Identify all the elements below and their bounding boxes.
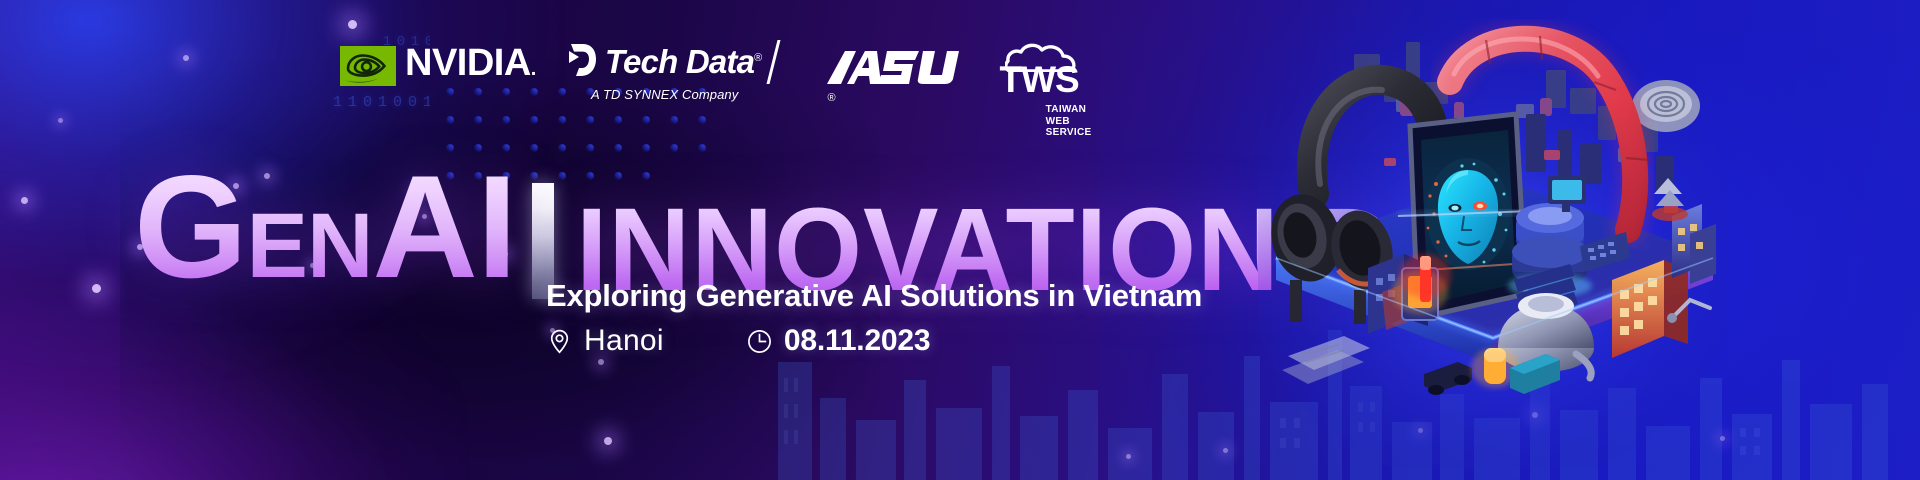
event-date-label: 08.11.2023 bbox=[784, 325, 931, 357]
subtitle: Exploring Generative AI Solutions in Vie… bbox=[546, 278, 1202, 314]
asus-logotype-icon bbox=[825, 48, 963, 90]
location-pin-icon bbox=[546, 328, 573, 355]
glow-particle-11 bbox=[604, 437, 612, 445]
techdata-d-icon bbox=[568, 42, 598, 78]
techdata-logo: Tech Data® A TD SYNNEX Company bbox=[568, 42, 762, 102]
nvidia-eye-icon bbox=[340, 46, 396, 86]
techdata-slash-accent bbox=[767, 40, 781, 84]
glow-particle-14 bbox=[1223, 448, 1228, 453]
asus-registered-mark: ® bbox=[827, 92, 835, 104]
tws-tagline-line1: TAIWAN bbox=[1046, 104, 1092, 116]
techdata-tagline: A TD SYNNEX Company bbox=[591, 87, 738, 102]
nvidia-logo: NVIDIA. bbox=[340, 38, 536, 88]
glow-particle-19 bbox=[58, 118, 63, 123]
techdata-wordmark: Tech Data® bbox=[605, 42, 762, 78]
glow-particle-13 bbox=[1126, 454, 1131, 459]
tws-tagline: TAIWAN WEB SERVICE bbox=[1046, 104, 1092, 142]
glow-particle-4 bbox=[348, 20, 357, 29]
ai-isometric-illustration bbox=[1258, 18, 1728, 468]
glow-particle-2 bbox=[92, 284, 101, 293]
asus-logo: ® bbox=[825, 48, 963, 104]
glow-particle-12 bbox=[598, 359, 604, 365]
glow-particle-0 bbox=[21, 197, 28, 204]
sponsor-logo-strip: NVIDIA. Tech Data® A TD SYNNEX Company bbox=[0, 38, 1160, 110]
nvidia-wordmark: NVIDIA. bbox=[405, 44, 536, 88]
event-location-label: Hanoi bbox=[584, 325, 664, 357]
event-date: 08.11.2023 bbox=[746, 325, 931, 357]
clock-icon bbox=[746, 328, 773, 355]
tws-tagline-line3: SERVICE bbox=[1046, 127, 1092, 139]
tws-tagline-line2: WEB bbox=[1046, 116, 1092, 128]
tws-wordmark: TWS bbox=[999, 61, 1078, 98]
event-meta: Hanoi 08.11.2023 bbox=[546, 325, 930, 357]
event-location: Hanoi bbox=[546, 325, 664, 357]
headline-genai: GENAI bbox=[134, 168, 516, 305]
tws-logo: TWS TAIWAN WEB SERVICE bbox=[999, 42, 1091, 142]
genai-innovation-day-banner: 1 0 0 1 0 1 1 0 0 0 1 0 1 0 0 1 1 0 1 0 … bbox=[0, 0, 1920, 480]
